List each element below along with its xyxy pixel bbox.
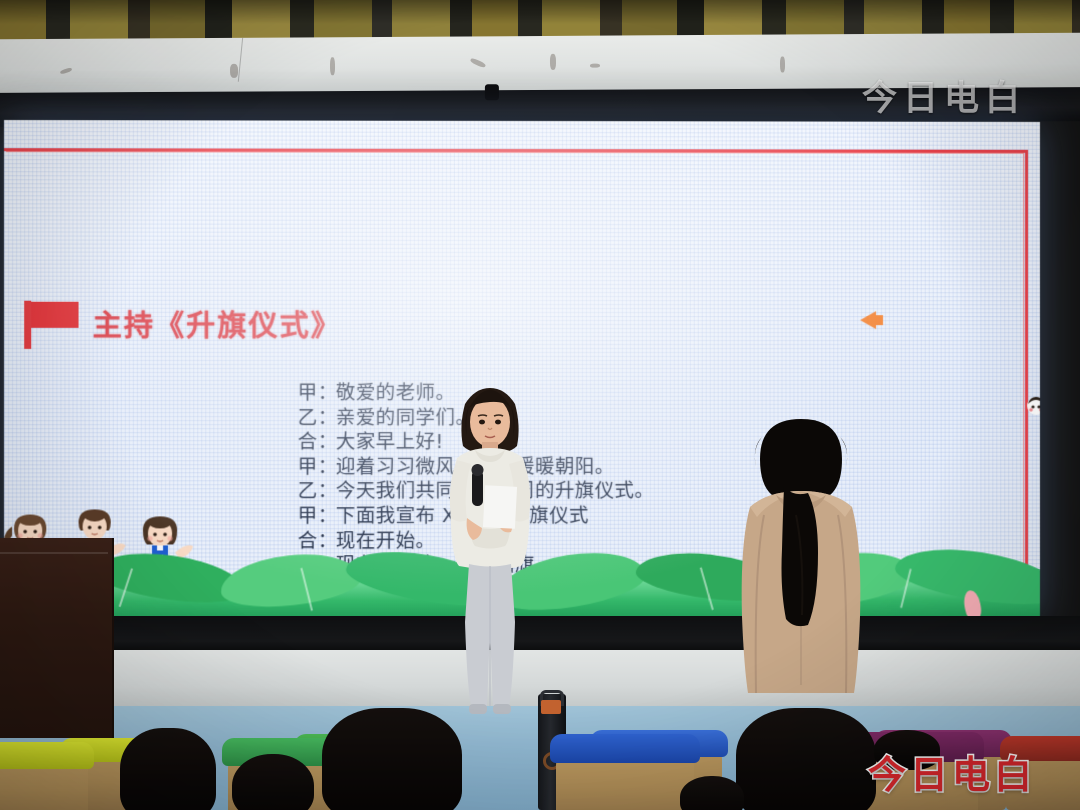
- script-content: 大家早上好!: [336, 430, 444, 453]
- orange-triangle-marker-tail-icon: [874, 315, 883, 325]
- audience-head: [232, 754, 314, 810]
- audience-head: [736, 708, 876, 810]
- audience-head: [322, 708, 462, 810]
- script-speaker: 甲：: [298, 381, 336, 406]
- seat: [0, 742, 88, 810]
- audience-head: [680, 776, 744, 810]
- script-speaker: 甲：: [298, 504, 336, 529]
- script-speaker: 乙：: [298, 406, 336, 431]
- cartoon-face-icon: [1026, 396, 1040, 416]
- audience-head: [120, 728, 216, 810]
- slide-title: 主持《升旗仪式》: [93, 303, 342, 345]
- seat: [556, 734, 694, 810]
- screenshot-root: 主持《升旗仪式》 甲：敬爱的老师。 乙：亲爱的同学们。 合：大家早上好! 甲：迎…: [0, 0, 1080, 810]
- student-host: [435, 378, 545, 716]
- script-speaker: 乙：: [298, 480, 336, 505]
- teacher-standing: [710, 415, 892, 715]
- watermark-bottom: 今日电白: [868, 744, 1036, 799]
- watermark-top: 今日电白: [862, 70, 1026, 121]
- red-flag-icon: [22, 299, 82, 351]
- script-speaker: 甲：: [298, 455, 336, 480]
- script-speaker: 合：: [298, 430, 336, 455]
